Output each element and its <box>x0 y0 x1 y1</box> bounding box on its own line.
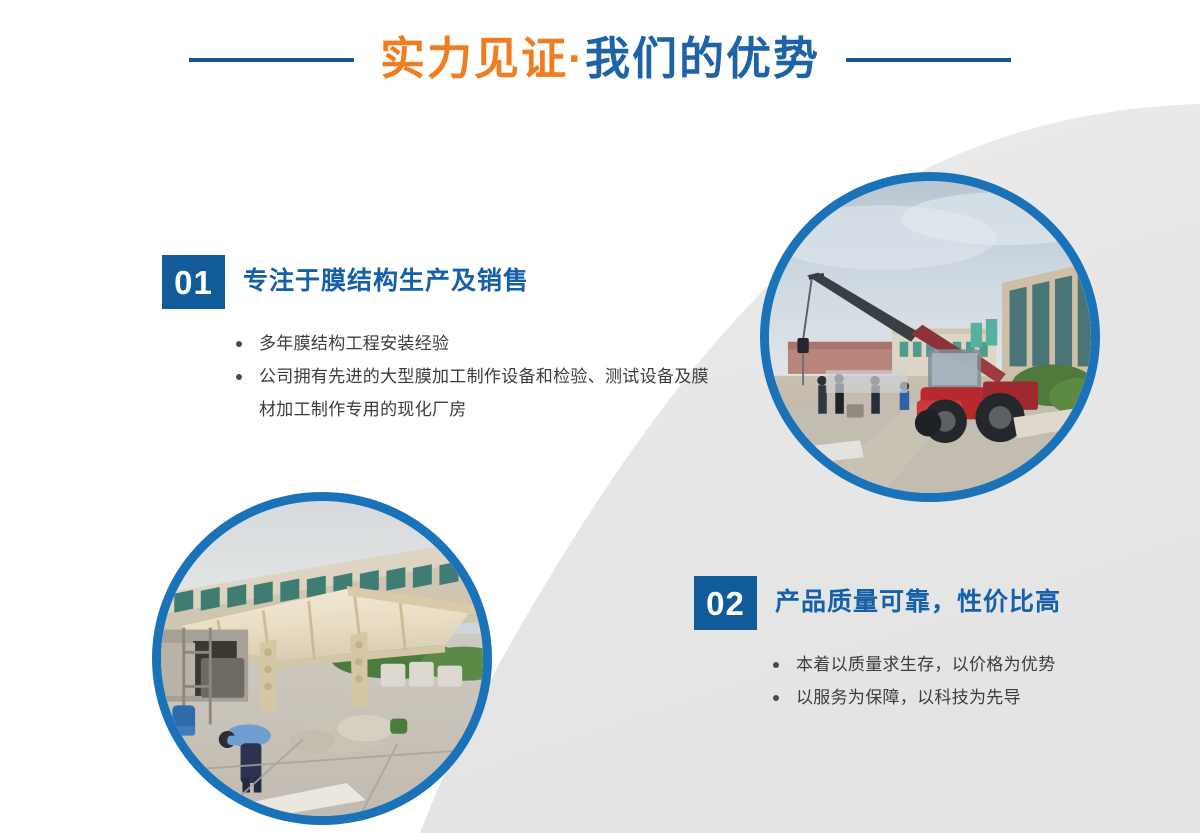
feature-01-number-badge: 01 <box>162 255 225 309</box>
bullet-dot-icon <box>773 662 779 668</box>
crane-truck-installation-photo <box>760 172 1100 502</box>
page-title-separator-dot: · <box>568 33 585 84</box>
list-item-text: 本着以质量求生存，以价格为优势 <box>796 655 1056 674</box>
list-item-text: 多年膜结构工程安装经验 <box>259 334 449 353</box>
page-title-primary: 实力见证 <box>380 33 568 84</box>
feature-02-head: 02 产品质量可靠，性价比高 <box>694 576 1174 630</box>
bullet-dot-icon <box>236 341 242 347</box>
bullet-dot-icon <box>236 374 242 380</box>
page-header: 实力见证·我们的优势 <box>0 0 1200 120</box>
feature-block-01: 01 专注于膜结构生产及销售 多年膜结构工程安装经验 公司拥有先进的大型膜加工制… <box>162 255 722 426</box>
crane-truck-photo-inner <box>769 181 1091 493</box>
feature-02-title: 产品质量可靠，性价比高 <box>775 589 1061 617</box>
list-item: 多年膜结构工程安装经验 <box>235 327 722 360</box>
feature-01-bullet-list: 多年膜结构工程安装经验 公司拥有先进的大型膜加工制作设备和检验、测试设备及膜材加… <box>162 327 722 426</box>
list-item: 公司拥有先进的大型膜加工制作设备和检验、测试设备及膜材加工制作专用的现化厂房 <box>235 360 722 426</box>
list-item-text: 公司拥有先进的大型膜加工制作设备和检验、测试设备及膜材加工制作专用的现化厂房 <box>259 367 709 419</box>
header-rule-right <box>846 58 1011 62</box>
membrane-carport-structure-photo <box>152 492 492 825</box>
feature-02-number-badge: 02 <box>694 576 757 630</box>
list-item: 本着以质量求生存，以价格为优势 <box>772 648 1174 681</box>
membrane-carport-photo-inner <box>161 501 483 816</box>
header-rule-left <box>189 58 354 62</box>
bullet-dot-icon <box>773 695 779 701</box>
page-title: 实力见证·我们的优势 <box>380 36 820 85</box>
advantages-page: 实力见证·我们的优势 <box>0 0 1200 833</box>
list-item-text: 以服务为保障，以科技为先导 <box>796 688 1021 707</box>
page-title-secondary: 我们的优势 <box>585 33 820 84</box>
feature-01-head: 01 专注于膜结构生产及销售 <box>162 255 722 309</box>
feature-02-bullet-list: 本着以质量求生存，以价格为优势 以服务为保障，以科技为先导 <box>694 648 1174 714</box>
list-item: 以服务为保障，以科技为先导 <box>772 681 1174 714</box>
feature-01-title: 专注于膜结构生产及销售 <box>243 268 529 296</box>
feature-block-02: 02 产品质量可靠，性价比高 本着以质量求生存，以价格为优势 以服务为保障，以科… <box>694 576 1174 714</box>
